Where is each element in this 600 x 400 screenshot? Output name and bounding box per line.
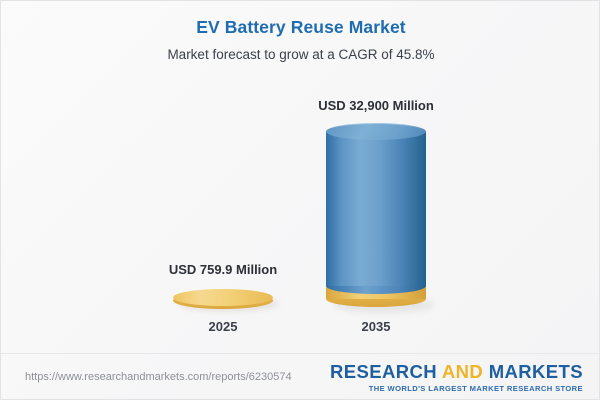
footer: https://www.researchandmarkets.com/repor…: [1, 353, 600, 400]
bar-2035-body: [326, 131, 426, 286]
bar-2025-top: [173, 289, 273, 306]
category-label-2035: 2035: [276, 319, 476, 335]
bar-2025: [171, 287, 275, 311]
logo-word-and: AND: [437, 361, 489, 382]
infographic-card: EV Battery Reuse Market Market forecast …: [0, 0, 600, 400]
logo-tagline: THE WORLD'S LARGEST MARKET RESEARCH STOR…: [330, 384, 583, 394]
value-label-2035: USD 32,900 Million: [276, 98, 476, 114]
brand-logo[interactable]: RESEARCH AND MARKETS THE WORLD'S LARGEST…: [330, 361, 583, 394]
logo-wordmark: RESEARCH AND MARKETS: [330, 361, 583, 383]
logo-word-research: RESEARCH: [330, 361, 437, 382]
logo-word-markets: MARKETS: [489, 361, 583, 382]
value-label-2025: USD 759.9 Million: [123, 262, 323, 278]
bar-2035-top: [326, 123, 426, 140]
bar-2035: [324, 121, 430, 313]
source-url[interactable]: https://www.researchandmarkets.com/repor…: [25, 370, 292, 384]
chart-plot-area: USD 759.9 Million USD 32,900 Million 202…: [1, 1, 600, 353]
